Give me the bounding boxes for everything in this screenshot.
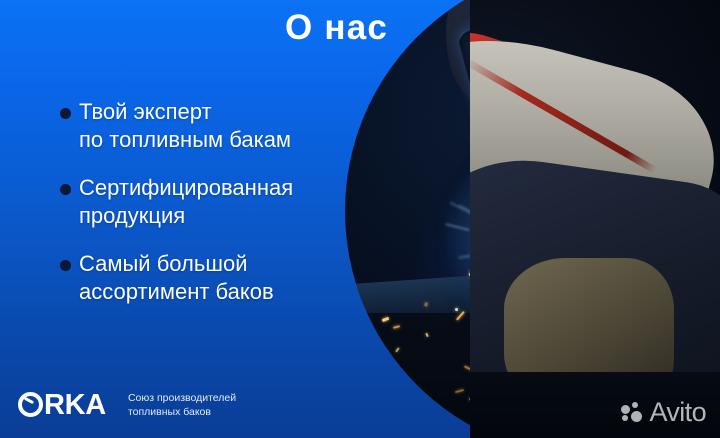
spark [645,305,648,308]
photo-right-bleed [470,0,720,438]
spark [542,255,545,260]
spark [563,286,567,292]
spark [570,266,580,270]
spark [553,252,563,255]
spark [662,337,667,341]
spark [581,278,585,281]
logo-tagline-line1: Союз производителей [128,391,236,405]
spark [663,326,667,329]
spark [504,247,510,252]
arc-streak [540,201,547,217]
arc-streak [541,297,544,303]
spark [536,270,542,274]
spark [424,302,428,307]
spark [527,303,531,312]
arc-streak [590,267,604,297]
spark [548,333,551,336]
spark [673,324,681,334]
photo-workpiece [345,246,720,345]
spark [527,291,531,298]
photo-circle-mask [345,0,720,438]
spark [500,335,504,338]
spark [659,264,665,273]
photo-helmet-visor [456,0,650,136]
arc-streak [502,273,512,284]
arc-streak [521,277,528,287]
spark [576,281,580,289]
spark [557,303,561,307]
spark [644,316,654,323]
spark [540,317,550,320]
spark [650,362,660,365]
spark [472,309,474,310]
spark [576,296,585,304]
spark [548,321,552,325]
spark [604,255,609,262]
spark [557,360,559,362]
photo-glove-left [639,195,720,330]
spark [587,317,598,321]
spark [595,294,598,299]
spark [534,308,540,311]
spark [395,348,399,353]
spark [562,287,567,295]
spark [535,274,545,279]
spark [578,273,583,276]
list-item-line2: ассортимент баков [79,278,390,306]
spark [562,276,567,281]
spark [563,260,567,262]
spark [523,242,530,245]
spark [562,331,568,341]
spark [464,365,472,370]
spark [699,344,704,353]
spark [564,298,574,304]
photo-bleed-background [470,0,720,438]
spark [608,340,614,350]
list-item-line2: продукция [79,202,390,230]
spark [579,258,587,260]
spark [628,255,635,263]
spark [573,292,578,299]
spark [540,299,544,303]
spark [562,273,568,277]
spark [617,294,620,298]
arc-streak [458,204,482,218]
spark [566,259,573,262]
spark [587,280,590,284]
spark [648,297,656,303]
spark [567,337,570,341]
spark [575,311,579,313]
list-item-line1: Сертифицированная [79,174,390,202]
avito-dots-icon [621,402,643,423]
arc-streak [579,179,584,200]
bullet-dot-icon [60,108,71,119]
list-item: Сертифицированная продукция [60,174,390,230]
spark [533,277,536,280]
spark [666,314,677,320]
spark [582,299,588,306]
spark [575,292,579,295]
spark [590,336,595,346]
arc-streak [532,243,570,245]
arc-streak [523,259,529,265]
spark [535,327,544,329]
photo-jacket-sleeve [621,111,720,438]
spark [551,320,557,324]
arc-streak [574,204,579,215]
spark [587,280,593,283]
spark [566,302,572,308]
spark [542,263,550,264]
spark [571,303,579,310]
spark [559,330,566,337]
photo-scene-background [345,0,720,438]
spark [506,269,510,273]
arc-streak [597,200,616,226]
spark [511,290,517,292]
spark [552,257,562,260]
spark [590,280,599,285]
spark [576,329,579,335]
list-item: Самый большой ассортимент баков [60,250,390,306]
spark [542,245,546,251]
arc-streak [609,261,617,267]
spark [506,356,509,360]
spark [536,308,544,317]
brand-logo: RKA Союз производителей топливных баков [18,389,236,420]
spark [578,291,583,298]
arc-streak [512,257,519,262]
spark [574,308,577,314]
spark [478,240,488,248]
spark [624,321,631,332]
arc-streak [625,181,638,197]
avito-watermark-label: Avito [649,399,706,426]
spark [487,387,496,391]
spark [585,295,589,302]
spark [559,263,568,272]
spark [553,288,559,297]
photo-red-collar [595,0,720,143]
spark [629,382,633,386]
spark [552,314,562,322]
spark [620,267,629,274]
spark [570,272,574,277]
spark [635,256,641,266]
spark [488,393,493,401]
spark [573,282,578,287]
spark [687,329,694,337]
arc-streak [587,237,607,242]
spark [552,256,555,259]
spark [554,265,556,267]
spark [536,257,538,260]
arc-streak [616,310,624,325]
spark [540,262,547,269]
spark [672,316,675,321]
spark [645,302,648,304]
spark [524,405,528,407]
spark [530,306,536,312]
arc-streak [622,207,639,221]
spark [393,325,400,329]
spark [562,254,567,256]
spark [593,331,597,336]
spark [476,351,482,356]
spark [536,273,541,278]
spark [702,376,708,377]
spark [549,327,557,330]
page-title: О нас [285,8,388,48]
spark [495,371,498,374]
spark [572,317,575,320]
spark [499,352,502,354]
spark [600,357,607,362]
spark [581,317,589,323]
spark [555,341,560,346]
photo-bleed-stripe [470,57,657,173]
spark [425,332,429,337]
list-item-line2: по топливным бакам [79,126,390,154]
spark [713,320,720,325]
spark [600,285,605,293]
list-item: Твой эксперт по топливным бакам [60,98,390,154]
spark [569,287,577,292]
feature-list: Твой эксперт по топливным бакам Сертифиц… [60,98,390,326]
spark [589,359,598,365]
spark [406,388,410,396]
spark [588,300,597,303]
spark [502,350,507,360]
spark [609,312,613,316]
arc-streak [512,231,529,239]
spark [553,324,560,330]
spark [543,288,547,295]
spark [660,295,665,297]
photo-bleed-shoulder [470,13,720,282]
photo-bleed-sleeve [470,146,720,438]
bullet-dot-icon [60,184,71,195]
arc-streak [555,224,558,232]
spark [584,295,586,299]
spark [629,322,635,326]
spark [611,296,615,298]
spark [541,317,544,326]
photo-jacket-shoulder [624,0,720,238]
spark [589,367,595,375]
arc-streak [450,202,480,219]
spark [539,289,548,294]
spark [454,308,458,312]
arc-streak [445,223,470,231]
avito-watermark: Avito [621,399,706,426]
spark [509,312,513,316]
spark [515,302,520,304]
logo-wordmark-text: RKA [44,391,106,420]
spark [539,325,547,332]
arc-streak [575,223,595,244]
spark [572,254,580,262]
spark [559,350,565,355]
logo-tagline: Союз производителей топливных баков [118,391,236,419]
spark [527,310,533,315]
spark [572,254,578,258]
spark [596,275,600,279]
spark [625,338,632,344]
photo-visor-glow [489,38,610,122]
spark [456,311,465,320]
spark [551,341,558,346]
spark [547,277,556,285]
spark [469,397,480,403]
spark [523,264,531,269]
spark [603,308,609,313]
photo-welding-helmet [430,0,711,152]
spark [541,281,550,285]
spark [655,321,660,329]
spark [630,309,641,314]
spark [665,306,674,312]
about-us-banner: О нас Твой эксперт по топливным бакам Се… [0,0,720,438]
spark [567,273,575,281]
spark [538,332,546,335]
arc-streak [654,264,664,269]
spark [675,319,684,322]
list-item-line1: Самый большой [79,250,390,278]
spark [621,300,627,309]
spark [542,330,548,336]
spark [529,279,532,282]
spark [516,268,523,271]
arc-streak [458,251,491,259]
spark [555,273,564,279]
spark [618,320,621,322]
spark [537,291,546,295]
logo-tagline-line2: топливных баков [128,405,236,419]
spark [662,247,665,250]
spark [620,331,629,340]
photo-bleed-glove [504,258,674,408]
spark [540,329,544,333]
spark [591,433,596,436]
arc-streak [623,189,631,198]
spark [515,344,520,347]
spark [567,281,570,284]
spark [568,264,571,272]
spark [577,279,580,282]
arc-streak [549,200,559,227]
photo-helmet-hood [561,0,720,109]
photo-weld-arc-core [523,211,587,275]
bullet-dot-icon [60,260,71,271]
spark [536,266,542,276]
list-item-line1: Твой эксперт [79,98,390,126]
photo-bleed-collar [470,18,545,150]
spark [469,268,475,276]
spark [632,329,635,333]
spark [513,356,516,359]
spark [533,292,542,295]
spark [455,389,464,393]
spark [672,341,677,346]
spark [688,347,694,357]
photo-weld-arc-halo [441,129,681,359]
logo-wordmark: RKA [18,389,106,420]
spark [585,266,594,269]
spark [521,261,527,270]
spark [534,356,542,364]
gauge-circle-icon [18,392,43,417]
spark [545,278,550,288]
